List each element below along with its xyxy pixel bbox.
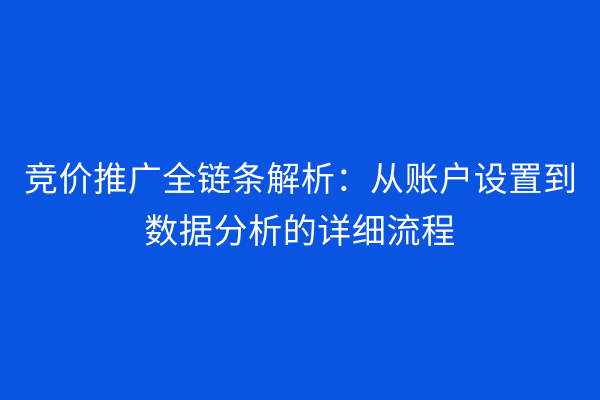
title-line-2: 数据分析的详细流程 bbox=[24, 206, 576, 258]
title-line-1: 竞价推广全链条解析：从账户设置到 bbox=[24, 154, 576, 206]
page-title: 竞价推广全链条解析：从账户设置到 数据分析的详细流程 bbox=[0, 154, 600, 258]
title-banner: 竞价推广全链条解析：从账户设置到 数据分析的详细流程 bbox=[0, 0, 600, 400]
